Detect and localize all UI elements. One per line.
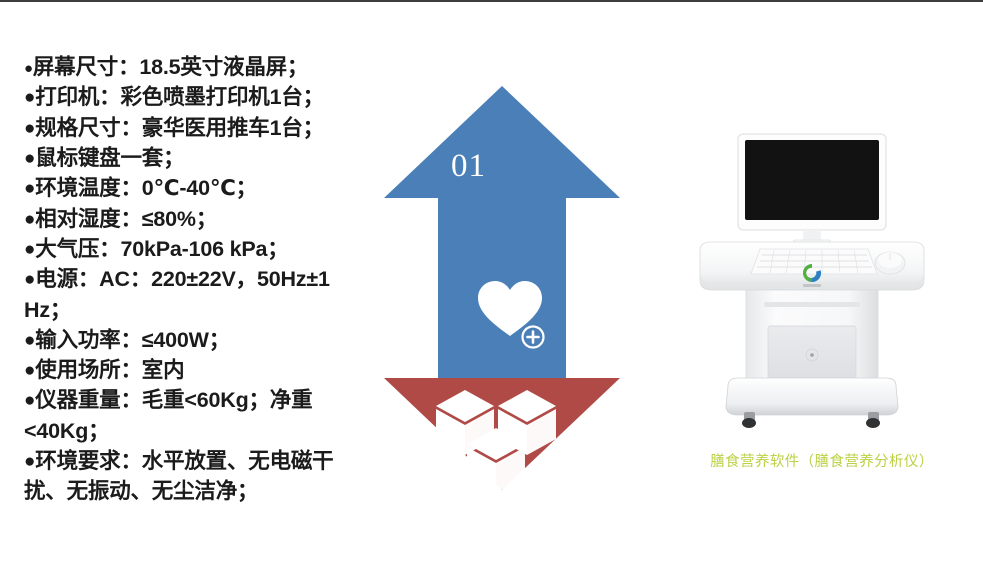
spec-item-environment-requirements: ●环境要求：水平放置、无电磁干扰、无振动、无尘洁净； (24, 446, 374, 507)
spec-item-usage-location: ●使用场所：室内 (24, 355, 374, 385)
spec-item-text: 相对湿度：≤80%； (35, 207, 217, 231)
bullet-icon: ● (24, 209, 35, 230)
spec-item-text: 环境温度：0℃-40℃； (35, 176, 257, 200)
bullet-icon: ● (24, 118, 35, 139)
up-arrow-shape (384, 86, 620, 378)
bullet-icon: ● (24, 148, 35, 169)
spec-item-input-power: ●输入功率：≤400W； (24, 325, 374, 355)
spec-item-instrument-weight: ●仪器重量：毛重<60Kg；净重<40Kg； (24, 385, 374, 446)
spec-item-dimensions: ●规格尺寸：豪华医用推车1台； (24, 113, 374, 143)
bullet-icon: ● (24, 269, 35, 290)
spec-item-text: 使用场所：室内 (35, 358, 184, 382)
specification-list: ●屏幕尺寸：18.5英寸液晶屏； ●打印机：彩色喷墨打印机1台； ●规格尺寸：豪… (24, 52, 374, 507)
spec-item-printer: ●打印机：彩色喷墨打印机1台； (24, 82, 374, 112)
keyboard (751, 249, 877, 274)
bullet-icon: ● (24, 239, 35, 260)
bullet-icon: ● (24, 390, 35, 411)
bullet-icon: ● (24, 178, 35, 199)
double-arrow-graphic: 01 (372, 78, 632, 498)
spec-item-text: 屏幕尺寸：18.5英寸液晶屏； (33, 55, 308, 79)
spec-item-screen-size: ●屏幕尺寸：18.5英寸液晶屏； (24, 52, 374, 82)
spec-item-text: 大气压：70kPa-106 kPa； (35, 237, 288, 261)
spec-item-text: 鼠标键盘一套； (35, 146, 184, 170)
bullet-icon: ● (24, 451, 35, 472)
spec-item-mouse-keyboard: ●鼠标键盘一套； (24, 143, 374, 173)
caster-right (866, 412, 880, 428)
spec-item-text: 输入功率：≤400W； (35, 328, 230, 352)
device-figure: 膳食营养软件（膳食营养分析仪） (672, 120, 972, 480)
cart-base (726, 378, 898, 415)
medical-cart-image (672, 120, 972, 430)
spec-item-power-supply: ●电源：AC：220±22V，50Hz±1 Hz； (24, 264, 374, 325)
cabinet-column (746, 290, 878, 386)
spec-item-text: 打印机：彩色喷墨打印机1台； (35, 85, 324, 109)
monitor (738, 134, 886, 249)
spec-item-text: 规格尺寸：豪华医用推车1台； (35, 116, 324, 140)
mouse (875, 252, 905, 274)
spec-item-text: 电源：AC：220±22V，50Hz±1 Hz； (24, 267, 330, 321)
spec-item-text: 仪器重量：毛重<60Kg；净重<40Kg； (24, 388, 312, 442)
spec-item-relative-humidity: ●相对湿度：≤80%； (24, 204, 374, 234)
bullet-icon: ● (24, 330, 35, 351)
arrow-number-label: 01 (451, 150, 486, 183)
bullet-icon: ● (24, 360, 35, 381)
slide-canvas: ●屏幕尺寸：18.5英寸液晶屏； ●打印机：彩色喷墨打印机1台； ●规格尺寸：豪… (0, 0, 983, 586)
spec-item-text: 环境要求：水平放置、无电磁干扰、无振动、无尘洁净； (24, 449, 333, 503)
device-caption: 膳食营养软件（膳食营养分析仪） (672, 450, 972, 471)
drawer (764, 302, 860, 307)
spec-item-atmospheric-pressure: ●大气压：70kPa-106 kPa； (24, 234, 374, 264)
caster-left (742, 412, 756, 428)
bullet-icon: ● (24, 87, 35, 108)
spec-item-ambient-temperature: ●环境温度：0℃-40℃； (24, 173, 374, 203)
bullet-icon: ● (24, 60, 33, 77)
